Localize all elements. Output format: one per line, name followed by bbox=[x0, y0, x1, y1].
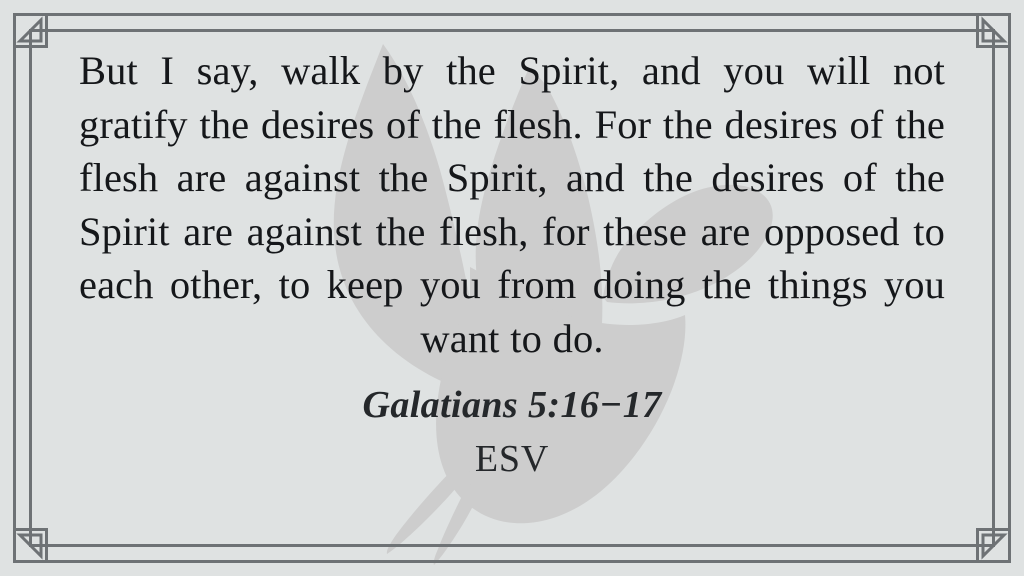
translation-label: ESV bbox=[475, 436, 549, 482]
slide-content: But I say, walk by the Spirit, and you w… bbox=[0, 0, 1024, 576]
verse-slide: But I say, walk by the Spirit, and you w… bbox=[0, 0, 1024, 576]
verse-body-text: But I say, walk by the Spirit, and you w… bbox=[79, 44, 945, 365]
verse-reference: Galatians 5:16−17 bbox=[362, 382, 661, 428]
